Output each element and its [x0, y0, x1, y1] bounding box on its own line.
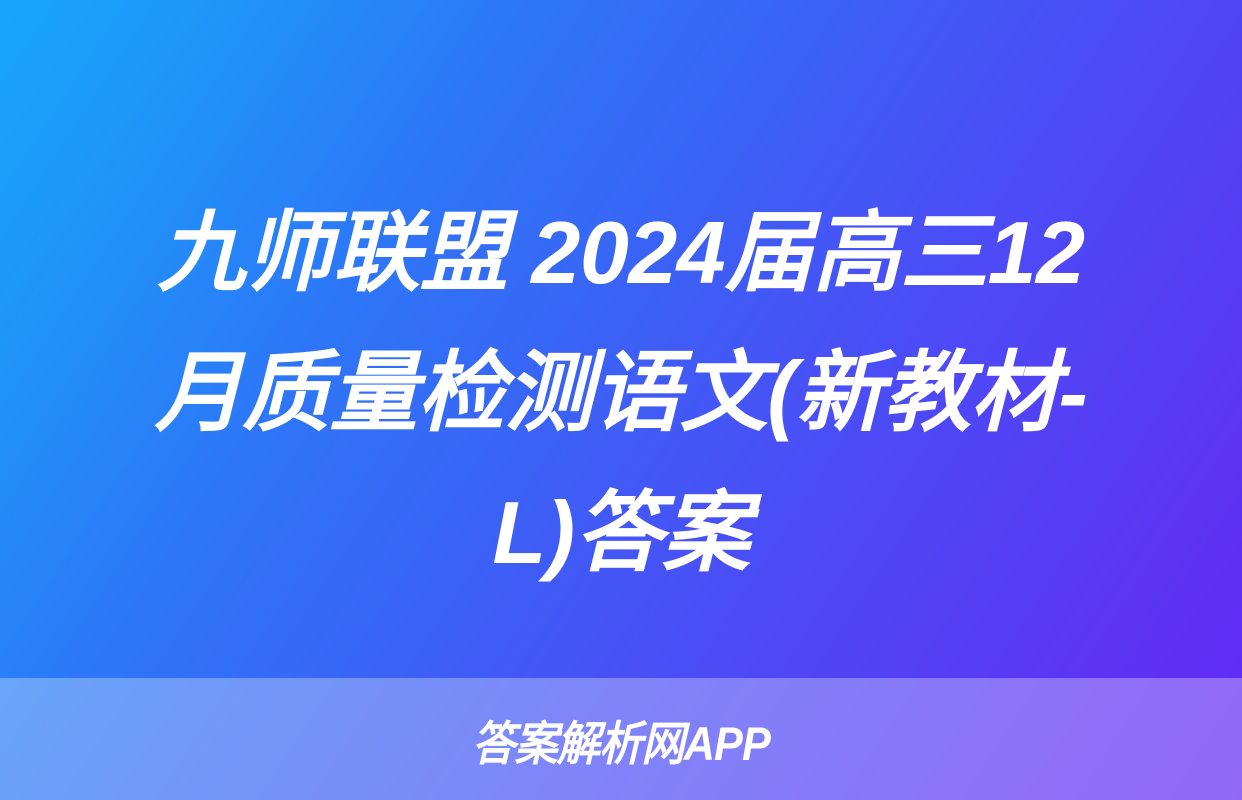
app-brand-label: 答案解析网APP — [50, 678, 1193, 800]
poster-canvas: 九师联盟 2024届高三12 月质量检测语文(新教材- L)答案 答案解析网AP… — [0, 0, 1242, 800]
title-line-2: 月质量检测语文(新教材- — [72, 323, 1170, 463]
title-line-3: L)答案 — [72, 463, 1170, 603]
title-line-1: 九师联盟 2024届高三12 — [72, 183, 1170, 323]
footer-band: 答案解析网APP — [0, 678, 1242, 800]
poster-title: 九师联盟 2024届高三12 月质量检测语文(新教材- L)答案 — [72, 183, 1170, 603]
